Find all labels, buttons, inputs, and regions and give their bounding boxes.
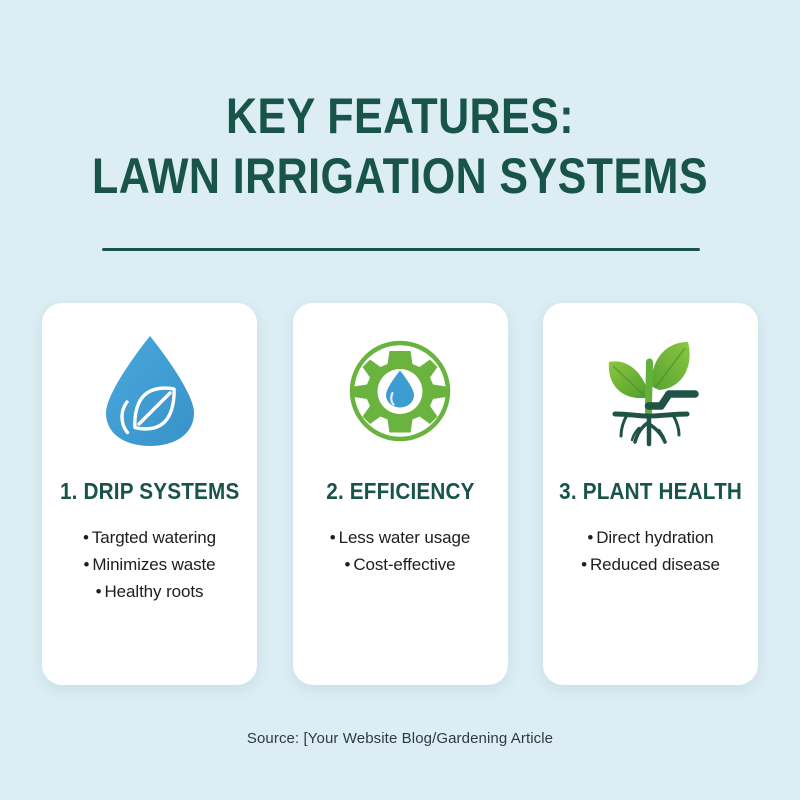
bullet-glyph: •	[83, 551, 89, 578]
list-item-label: Less water usage	[339, 528, 471, 547]
list-item-label: Healthy roots	[105, 582, 204, 601]
card-heading: 1. DRIP SYSTEMS	[60, 478, 239, 504]
feature-card-plant-health: 3. PLANT HEALTH •Direct hydration •Reduc…	[543, 303, 758, 685]
card-bullet-list: •Direct hydration •Reduced disease	[543, 524, 758, 578]
bullet-glyph: •	[83, 524, 89, 551]
card-heading: 2. EFFICIENCY	[326, 478, 474, 504]
list-item: •Minimizes waste	[42, 551, 257, 578]
seedling-roots-pipe-icon	[591, 332, 711, 450]
list-item: •Healthy roots	[42, 578, 257, 605]
list-item-label: Reduced disease	[590, 555, 720, 574]
list-item-label: Cost-effective	[353, 555, 455, 574]
list-item: •Cost-effective	[293, 551, 508, 578]
list-item-label: Minimizes waste	[92, 555, 215, 574]
list-item-label: Direct hydration	[596, 528, 713, 547]
bullet-glyph: •	[344, 551, 350, 578]
list-item: •Direct hydration	[543, 524, 758, 551]
title-line-2: LAWN IRRIGATION SYSTEMS	[56, 146, 744, 206]
title-line-1: KEY FEATURES:	[56, 86, 744, 146]
card-bullet-list: •Targted watering •Minimizes waste •Heal…	[42, 524, 257, 605]
bullet-glyph: •	[587, 524, 593, 551]
water-droplet-leaf-icon	[98, 332, 202, 450]
card-icon-slot	[543, 303, 758, 478]
page-title: KEY FEATURES: LAWN IRRIGATION SYSTEMS	[0, 86, 800, 206]
feature-card-drip-systems: 1. DRIP SYSTEMS •Targted watering •Minim…	[42, 303, 257, 685]
bullet-glyph: •	[330, 524, 336, 551]
list-item: •Targted watering	[42, 524, 257, 551]
feature-card-efficiency: 2. EFFICIENCY •Less water usage •Cost-ef…	[293, 303, 508, 685]
list-item-label: Targted watering	[92, 528, 216, 547]
card-icon-slot	[293, 303, 508, 478]
card-icon-slot	[42, 303, 257, 478]
infographic-canvas: KEY FEATURES: LAWN IRRIGATION SYSTEMS	[0, 0, 800, 800]
card-heading: 3. PLANT HEALTH	[559, 478, 742, 504]
gear-water-droplet-icon	[346, 337, 454, 445]
list-item: •Less water usage	[293, 524, 508, 551]
feature-cards-row: 1. DRIP SYSTEMS •Targted watering •Minim…	[42, 303, 758, 685]
title-divider	[102, 248, 700, 251]
source-caption: Source: [Your Website Blog/Gardening Art…	[0, 730, 800, 747]
list-item: •Reduced disease	[543, 551, 758, 578]
card-bullet-list: •Less water usage •Cost-effective	[293, 524, 508, 578]
bullet-glyph: •	[581, 551, 587, 578]
bullet-glyph: •	[96, 578, 102, 605]
